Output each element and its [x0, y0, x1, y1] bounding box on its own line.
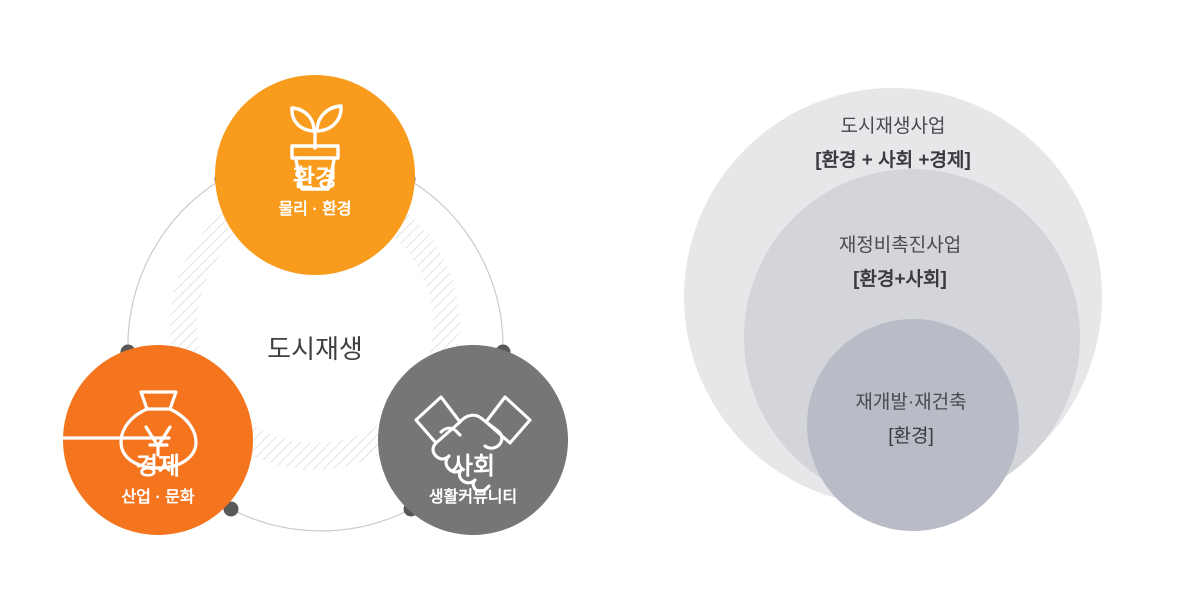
three-pillar-circle-diagram: 도시재생 환경 물리 · 환경 [0, 75, 568, 535]
diagram-canvas: 도시재생사업 [환경 + 사회 +경제] 재정비촉진사업 [환경+사회] 재개발… [0, 0, 1184, 596]
center-label: 도시재생 [267, 334, 363, 364]
ring-inner-line2: [환경] [888, 425, 934, 447]
ring-outer-line1: 도시재생사업 [841, 115, 946, 137]
connector-arc-economy-society [231, 509, 411, 531]
ring-inner-redevelopment[interactable]: 재개발·재건축 [환경] [807, 319, 1019, 531]
economy-circle [63, 345, 253, 535]
society-circle [378, 345, 568, 535]
pillar-node-economy[interactable]: 경제 산업 · 문화 [0, 345, 253, 535]
nested-scope-circles: 도시재생사업 [환경 + 사회 +경제] 재정비촉진사업 [환경+사회] 재개발… [684, 88, 1102, 531]
ring-middle-line2: [환경+사회] [853, 268, 947, 290]
economy-title: 경제 [136, 453, 180, 480]
full-figure: 도시재생사업 [환경 + 사회 +경제] 재정비촉진사업 [환경+사회] 재개발… [0, 0, 1184, 596]
ring-middle-line1: 재정비촉진사업 [839, 234, 961, 256]
pillar-node-environment[interactable]: 환경 물리 · 환경 [215, 75, 415, 275]
environment-title: 환경 [293, 165, 337, 192]
pillar-node-society[interactable]: 사회 생활커뮤니티 [378, 345, 568, 535]
ring-inner-line1: 재개발·재건축 [855, 391, 966, 413]
ring-inner-shape [807, 319, 1019, 531]
economy-subtitle: 산업 · 문화 [121, 487, 194, 506]
society-title: 사회 [451, 453, 495, 480]
ring-outer-line2: [환경 + 사회 +경제] [815, 149, 971, 171]
environment-subtitle: 물리 · 환경 [278, 200, 351, 218]
society-subtitle: 생활커뮤니티 [429, 487, 517, 506]
